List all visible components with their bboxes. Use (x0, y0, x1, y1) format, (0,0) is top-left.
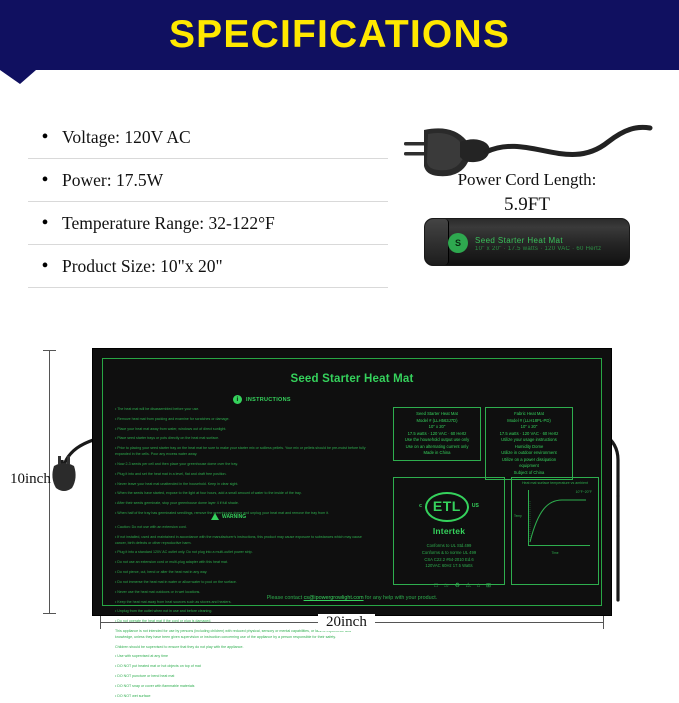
etl-logo-icon: ETL (425, 492, 469, 522)
cord-length-value: 5.9FT (398, 192, 656, 219)
warning-line: • DO NOT wet surface (115, 694, 369, 700)
chart-heading: Heat mat surface temperature vs ambient (514, 481, 596, 486)
height-dimension-tick-bottom (43, 613, 56, 614)
roll-spec-text: 10" x 20" · 17.5 watts · 120 VAC · 60 He… (475, 246, 601, 252)
warning-line: • If not installed, used and maintained … (115, 535, 369, 547)
heat-mat-body: Seed Starter Heat Mat i INSTRUCTIONS • T… (92, 348, 612, 616)
spec-text-temperature: Temperature Range: 32-122°F (62, 213, 275, 234)
certification-box: c ETL US Intertek Conforms to UL Std.499… (393, 477, 505, 585)
width-dimension-tick-left (100, 616, 101, 629)
footer-prefix: Please contact (267, 595, 304, 601)
rolled-mat-image: S Seed Starter Heat Mat 10" x 20" · 17.5… (424, 218, 630, 266)
spec-text-power: Power: 17.5W (62, 170, 163, 191)
certification-line: CSA C22.2 #64-2010 Ed.6 (422, 557, 476, 564)
instruction-line: • Place seed starter trays or pots direc… (115, 436, 375, 442)
page-title: SPECIFICATIONS (0, 0, 679, 70)
chart-curve (528, 490, 590, 546)
mat-diagram-area: Seed Starter Heat Mat i INSTRUCTIONS • T… (0, 300, 679, 679)
warning-line: • Caution: Do not use with an extension … (115, 525, 369, 531)
chart-plot: 10°F~20°F Temp Time (514, 488, 596, 556)
mat-instruction-text: • The heat mat will be disassembled befo… (115, 407, 375, 521)
etl-mark: c ETL US (419, 492, 479, 522)
spec-row-power: • Power: 17.5W (28, 166, 388, 202)
bullet-icon: • (28, 170, 62, 190)
warning-line: • Do not use an extension cord or multi-… (115, 560, 369, 566)
mat-product-title: Seed Starter Heat Mat (93, 373, 611, 385)
spec-row-temperature: • Temperature Range: 32-122°F (28, 209, 388, 245)
mat-instructions-header: i INSTRUCTIONS (233, 395, 291, 404)
instruction-line: • The heat mat will be disassembled befo… (115, 407, 375, 413)
bullet-icon: • (28, 127, 62, 147)
warning-line: • DO NOT snap or cover with flammable ma… (115, 684, 369, 690)
height-dimension-tick-top (43, 350, 56, 351)
mat-warning-header: WARNING (211, 513, 246, 520)
roll-end-cap (425, 219, 449, 265)
width-dimension-tick-right (603, 616, 604, 629)
width-dimension-label: 20inch (318, 614, 375, 631)
warning-label: WARNING (222, 514, 246, 520)
height-dimension-label: 10inch (10, 471, 51, 488)
mat-footer: Please contact cs@ipowergrowlight.com fo… (93, 595, 611, 601)
spec-row-size: • Product Size: 10"x 20" (28, 252, 388, 288)
spec-text-voltage: Voltage: 120V AC (62, 127, 191, 148)
temperature-chart-box: Heat mat surface temperature vs ambient … (511, 477, 599, 585)
chart-y-axis-label: Temp (514, 514, 522, 519)
instruction-line: • After their seeds germinate, stop your… (115, 501, 375, 507)
certification-line: 120VAC 60Hz 17.5 Watts (422, 563, 476, 570)
bullet-icon: • (28, 213, 62, 233)
warning-triangle-icon (211, 513, 219, 520)
rating-label-left: Seed Starter Heat Mat Model # (LLH563J7D… (393, 407, 481, 461)
rating-label-left-line: Made in China (396, 450, 478, 457)
intertek-brand: Intertek (433, 525, 465, 538)
footer-suffix: for any help with your product. (364, 595, 438, 601)
compliance-icons: □ ♨ ♻ ⚠ ⌂ ⊞ (434, 582, 493, 589)
warning-line: • Do not pierce, cut, bend or alter the … (115, 570, 369, 576)
chart-x-axis-label: Time (514, 551, 596, 556)
certification-line: Conforms & to norme UL 499 (422, 550, 476, 557)
instruction-line: • Remove heat mat from packing and exami… (115, 417, 375, 423)
instruction-line: • Prior to placing your seed starter tra… (115, 446, 375, 458)
rating-label-right: Fabric Heat Mat Model # (LLH18PL-PD) 10"… (485, 407, 573, 480)
instruction-line: • Plug it into and set the heat mat in a… (115, 472, 375, 478)
specifications-list: • Voltage: 120V AC • Power: 17.5W • Temp… (28, 123, 388, 295)
certification-line: Conforms to UL Std.499 (422, 543, 476, 550)
instruction-line: • When the seeds have started, expose to… (115, 491, 375, 497)
warning-line: Children should be supervised to ensure … (115, 645, 369, 651)
spec-row-voltage: • Voltage: 120V AC (28, 123, 388, 159)
instructions-label: INSTRUCTIONS (246, 397, 291, 403)
instruction-line: • Place your heat mat away from water, w… (115, 427, 375, 433)
cord-length-caption: Power Cord Length: 5.9FT (398, 168, 656, 219)
rating-label-right-line: Subject of China (488, 470, 570, 477)
warning-line: • Do not immerse the heat mat in water o… (115, 580, 369, 586)
bullet-icon: • (28, 256, 62, 276)
support-email-link[interactable]: cs@ipowergrowlight.com (304, 595, 364, 601)
spec-text-size: Product Size: 10"x 20" (62, 256, 223, 277)
warning-line: • Plug it into a standard 120V AC outlet… (115, 550, 369, 556)
rating-label-left-line: Use the household output use only (396, 437, 478, 444)
certification-lines: Conforms to UL Std.499 Conforms & to nor… (422, 543, 476, 570)
warning-line: • DO NOT put heated mat or hot objects o… (115, 664, 369, 670)
cord-length-label: Power Cord Length: (398, 168, 656, 192)
warning-line: • Use with supervised at any time (115, 654, 369, 660)
roll-title-text: Seed Starter Heat Mat (475, 236, 563, 245)
brand-logo-icon: S (448, 233, 468, 253)
instruction-line: • Now 2-3 seeds per cell and then place … (115, 462, 375, 468)
etl-right-mark: US (472, 503, 479, 511)
info-icon: i (233, 395, 242, 404)
etl-left-mark: c (419, 503, 422, 511)
instruction-line: • Never leave your heat mat unattended i… (115, 482, 375, 488)
